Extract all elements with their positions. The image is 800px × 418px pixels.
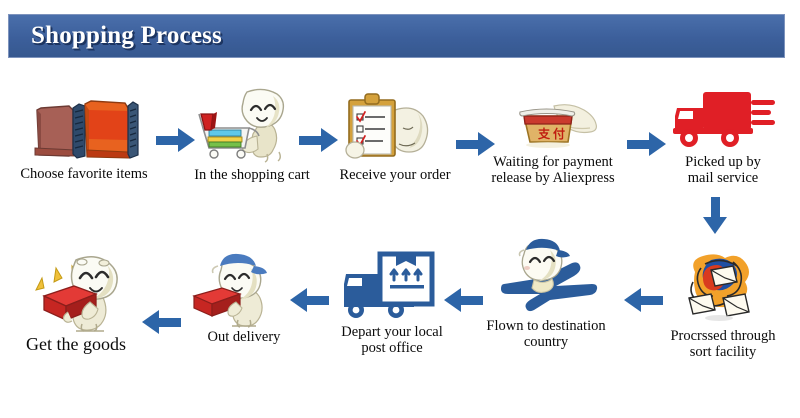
step-receive-your-order: Receive your order xyxy=(320,88,470,183)
step-waiting-for-payment: 支 付 Waiting for payment release by Aliex… xyxy=(470,98,636,186)
step-choose-favorite-items: Choose favorite items xyxy=(4,92,164,182)
clipboard-checklist-icon xyxy=(339,88,451,162)
step-label: Receive your order xyxy=(320,167,470,183)
blue-post-truck-icon xyxy=(338,252,446,322)
svg-text:支: 支 xyxy=(537,126,551,141)
step-label: Flown to destination country xyxy=(466,318,626,350)
red-delivery-truck-icon xyxy=(667,86,779,152)
page-title: Shopping Process xyxy=(31,22,222,50)
step-get-the-goods: Get the goods xyxy=(8,250,144,354)
header-banner: Shopping Process xyxy=(8,14,785,58)
happy-customer-icon xyxy=(18,250,134,332)
shopping-process-infographic: Shopping Process Ch xyxy=(0,0,800,418)
mail-sorting-pile-icon xyxy=(675,248,771,326)
step-label: Picked up by mail service xyxy=(650,154,796,186)
shopping-cart-character-icon xyxy=(197,84,307,164)
airplane-character-icon xyxy=(484,238,608,318)
arrow-left-1 xyxy=(620,288,663,313)
courier-character-icon xyxy=(192,252,296,328)
step-label: In the shopping cart xyxy=(176,167,328,183)
step-label: Procrssed through sort facility xyxy=(648,328,798,360)
step-label: Out delivery xyxy=(176,329,312,345)
arrow-head xyxy=(142,310,159,334)
step-picked-up-by-mail: Picked up by mail service xyxy=(650,86,796,186)
step-flown-to-destination: Flown to destination country xyxy=(466,238,626,350)
step-out-delivery: Out delivery xyxy=(176,252,312,345)
payment-stamp-icon: 支 付 xyxy=(498,98,608,150)
step-label: Depart your local post office xyxy=(318,324,466,356)
arrow-down-1 xyxy=(703,197,728,238)
step-processed-through-sort: Procrssed through sort facility xyxy=(648,248,798,360)
step-label: Choose favorite items xyxy=(4,166,164,182)
arrow-head xyxy=(703,217,727,234)
stacked-books-icon xyxy=(29,92,139,160)
arrow-left-4 xyxy=(138,310,181,335)
step-depart-local-post: Depart your local post office xyxy=(318,252,466,356)
svg-text:付: 付 xyxy=(553,126,565,141)
step-label: Get the goods xyxy=(8,334,144,354)
arrow-head xyxy=(624,288,641,312)
step-label: Waiting for payment release by Aliexpres… xyxy=(470,154,636,186)
